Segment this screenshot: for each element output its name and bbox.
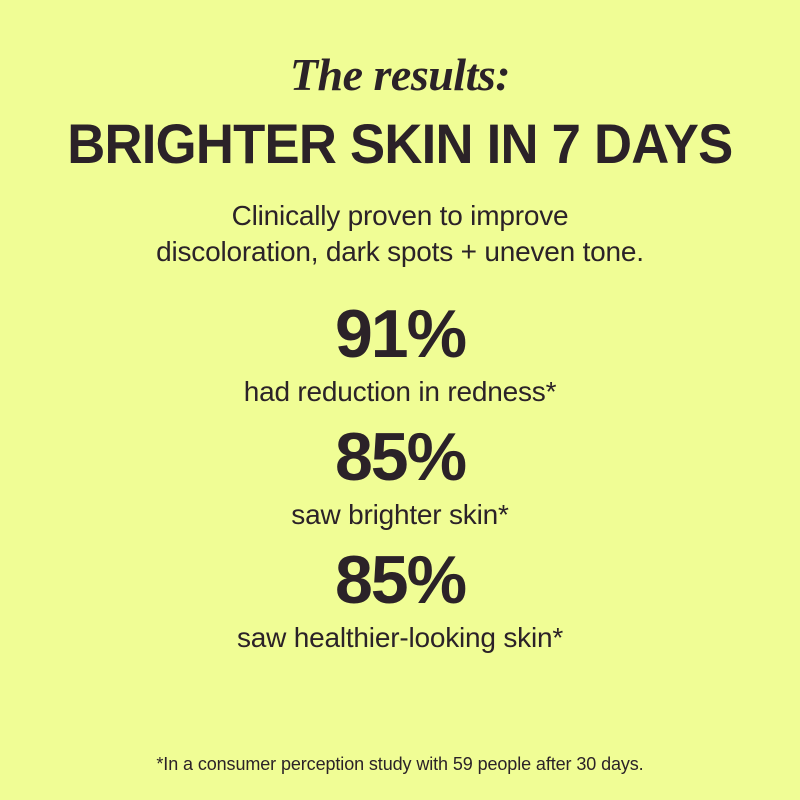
results-card: The results: BRIGHTER SKIN IN 7 DAYS Cli… <box>0 0 800 800</box>
stat-item: 91% had reduction in redness* <box>244 300 557 409</box>
stat-label: had reduction in redness* <box>244 375 557 409</box>
eyebrow-text: The results: <box>290 52 510 98</box>
page-title: BRIGHTER SKIN IN 7 DAYS <box>67 116 732 172</box>
stat-label: saw healthier-looking skin* <box>237 621 563 655</box>
stat-value: 91% <box>244 300 557 369</box>
stat-value: 85% <box>291 423 508 492</box>
stats-list: 91% had reduction in redness* 85% saw br… <box>0 300 800 669</box>
footnote: *In a consumer perception study with 59 … <box>0 754 800 776</box>
subtitle-line-2: discoloration, dark spots + uneven tone. <box>156 234 644 270</box>
stat-item: 85% saw brighter skin* <box>291 423 508 532</box>
subtitle-line-1: Clinically proven to improve <box>156 198 644 234</box>
stat-value: 85% <box>237 546 563 615</box>
stat-label: saw brighter skin* <box>291 498 508 532</box>
subtitle: Clinically proven to improve discolorati… <box>156 198 644 270</box>
stat-item: 85% saw healthier-looking skin* <box>237 546 563 655</box>
